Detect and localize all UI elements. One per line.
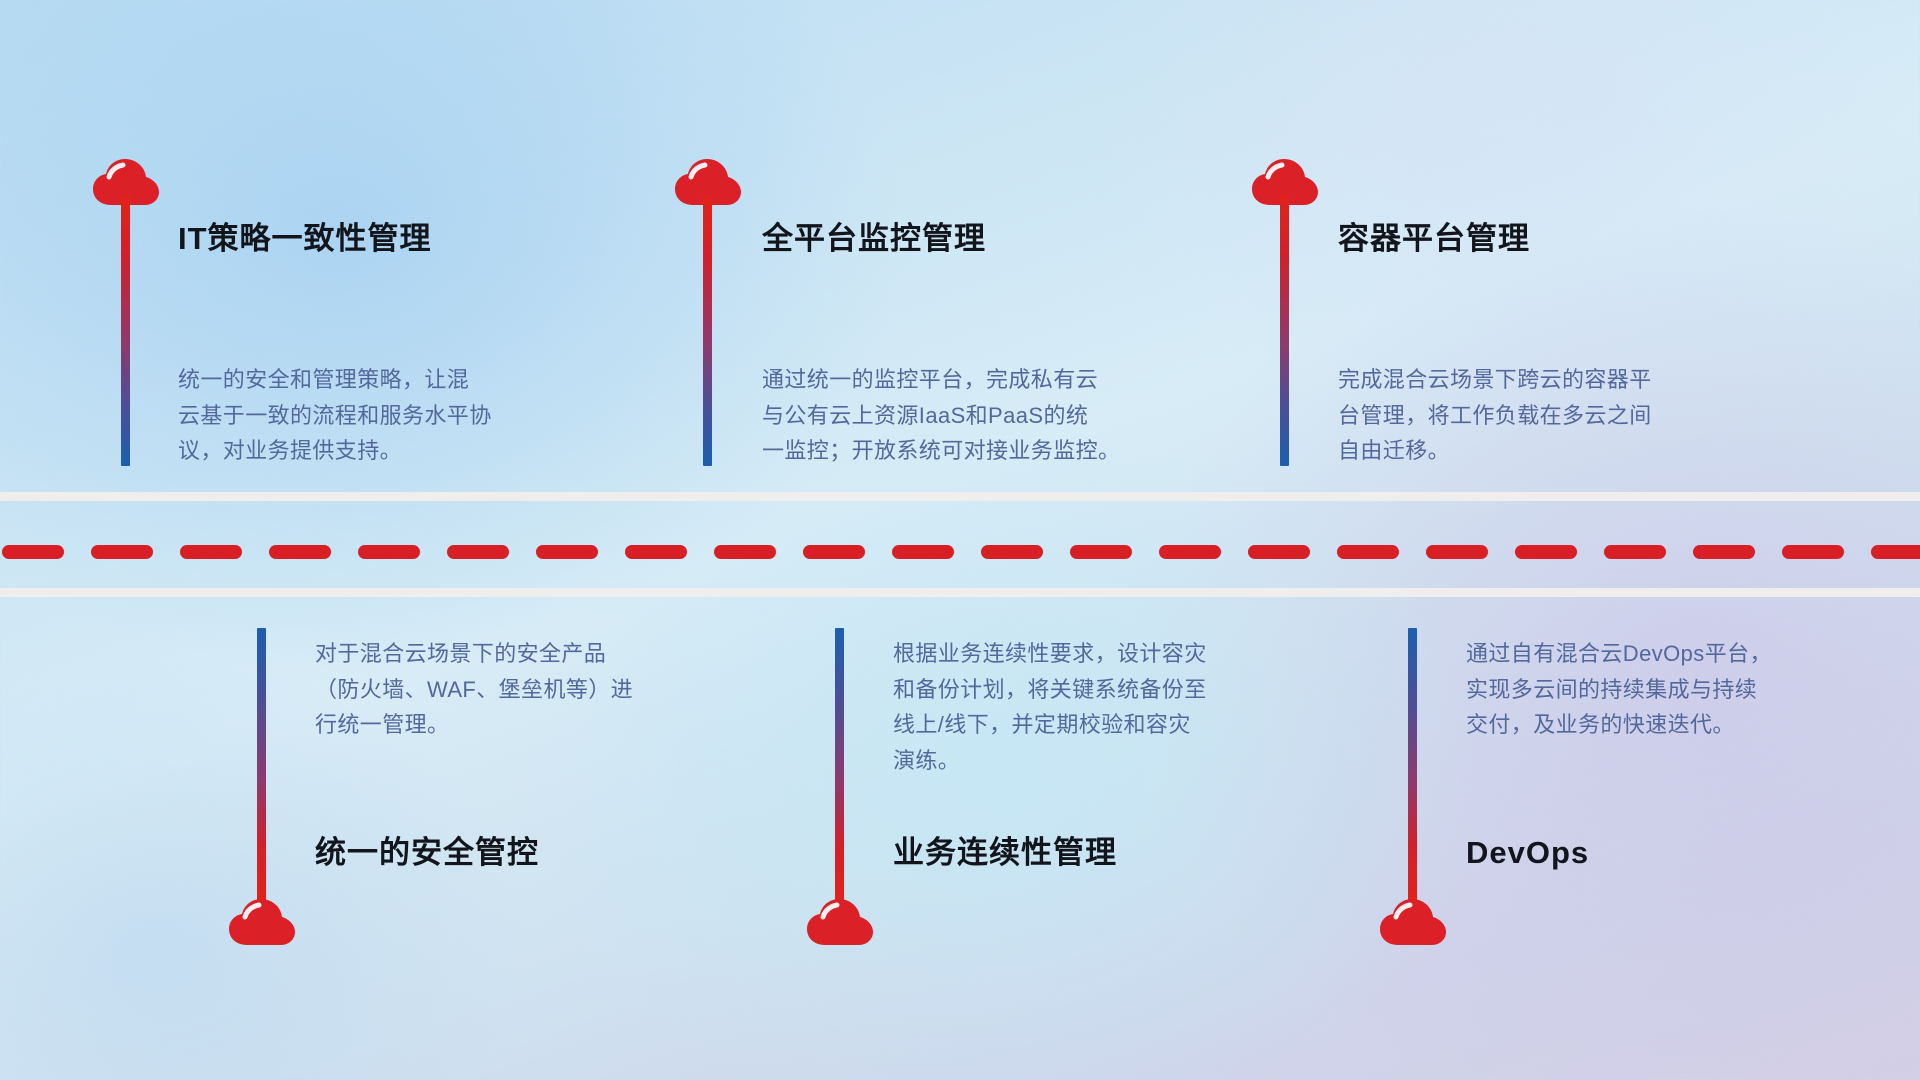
section-heading: 业务连续性管理 bbox=[893, 836, 1117, 870]
dash-segment bbox=[1604, 545, 1666, 559]
dash-segment bbox=[892, 545, 954, 559]
dash-segment bbox=[1070, 545, 1132, 559]
section-body: 通过自有混合云DevOps平台， 实现多云间的持续集成与持续 交付，及业务的快速… bbox=[1466, 636, 1906, 743]
section-body: 统一的安全和管理策略，让混 云基于一致的流程和服务水平协 议，对业务提供支持。 bbox=[178, 362, 608, 469]
dash-segment bbox=[269, 545, 331, 559]
dash-segment bbox=[2, 545, 64, 559]
section-heading: DevOps bbox=[1466, 836, 1589, 870]
dash-segment bbox=[1515, 545, 1577, 559]
connector-stem bbox=[1280, 196, 1289, 466]
section-body: 对于混合云场景下的安全产品 （防火墙、WAF、堡垒机等）进 行统一管理。 bbox=[315, 636, 745, 743]
connector-stem bbox=[257, 628, 266, 900]
dash-segment bbox=[447, 545, 509, 559]
cloud-icon bbox=[1380, 898, 1446, 946]
divider-rule-bottom bbox=[0, 588, 1920, 597]
dash-segment bbox=[536, 545, 598, 559]
dash-segment bbox=[714, 545, 776, 559]
divider-rule-top bbox=[0, 492, 1920, 501]
dash-segment bbox=[91, 545, 153, 559]
cloud-icon bbox=[229, 898, 295, 946]
connector-stem bbox=[703, 196, 712, 466]
dash-segment bbox=[803, 545, 865, 559]
connector-stem bbox=[835, 628, 844, 900]
section-heading: 统一的安全管控 bbox=[315, 836, 539, 870]
dash-segment bbox=[180, 545, 242, 559]
dash-segment bbox=[1337, 545, 1399, 559]
connector-stem bbox=[121, 196, 130, 466]
cloud-icon bbox=[807, 898, 873, 946]
dash-segment bbox=[1159, 545, 1221, 559]
section-heading: 容器平台管理 bbox=[1338, 222, 1530, 256]
dash-segment bbox=[981, 545, 1043, 559]
dash-segment bbox=[625, 545, 687, 559]
dash-segment bbox=[1693, 545, 1755, 559]
dash-segment bbox=[1782, 545, 1844, 559]
connector-stem bbox=[1408, 628, 1417, 900]
section-heading: 全平台监控管理 bbox=[762, 222, 986, 256]
infographic-canvas: IT策略一致性管理 统一的安全和管理策略，让混 云基于一致的流程和服务水平协 议… bbox=[0, 0, 1920, 1080]
dashed-separator bbox=[0, 545, 1920, 559]
section-heading: IT策略一致性管理 bbox=[178, 222, 432, 256]
dash-segment bbox=[1248, 545, 1310, 559]
section-body: 通过统一的监控平台，完成私有云 与公有云上资源IaaS和PaaS的统 一监控；开… bbox=[762, 362, 1212, 469]
section-body: 根据业务连续性要求，设计容灾 和备份计划，将关键系统备份至 线上/线下，并定期校… bbox=[893, 636, 1333, 779]
section-body: 完成混合云场景下跨云的容器平 台管理，将工作负载在多云之间 自由迁移。 bbox=[1338, 362, 1788, 469]
dash-segment bbox=[1871, 545, 1920, 559]
dash-segment bbox=[1426, 545, 1488, 559]
dash-segment bbox=[358, 545, 420, 559]
